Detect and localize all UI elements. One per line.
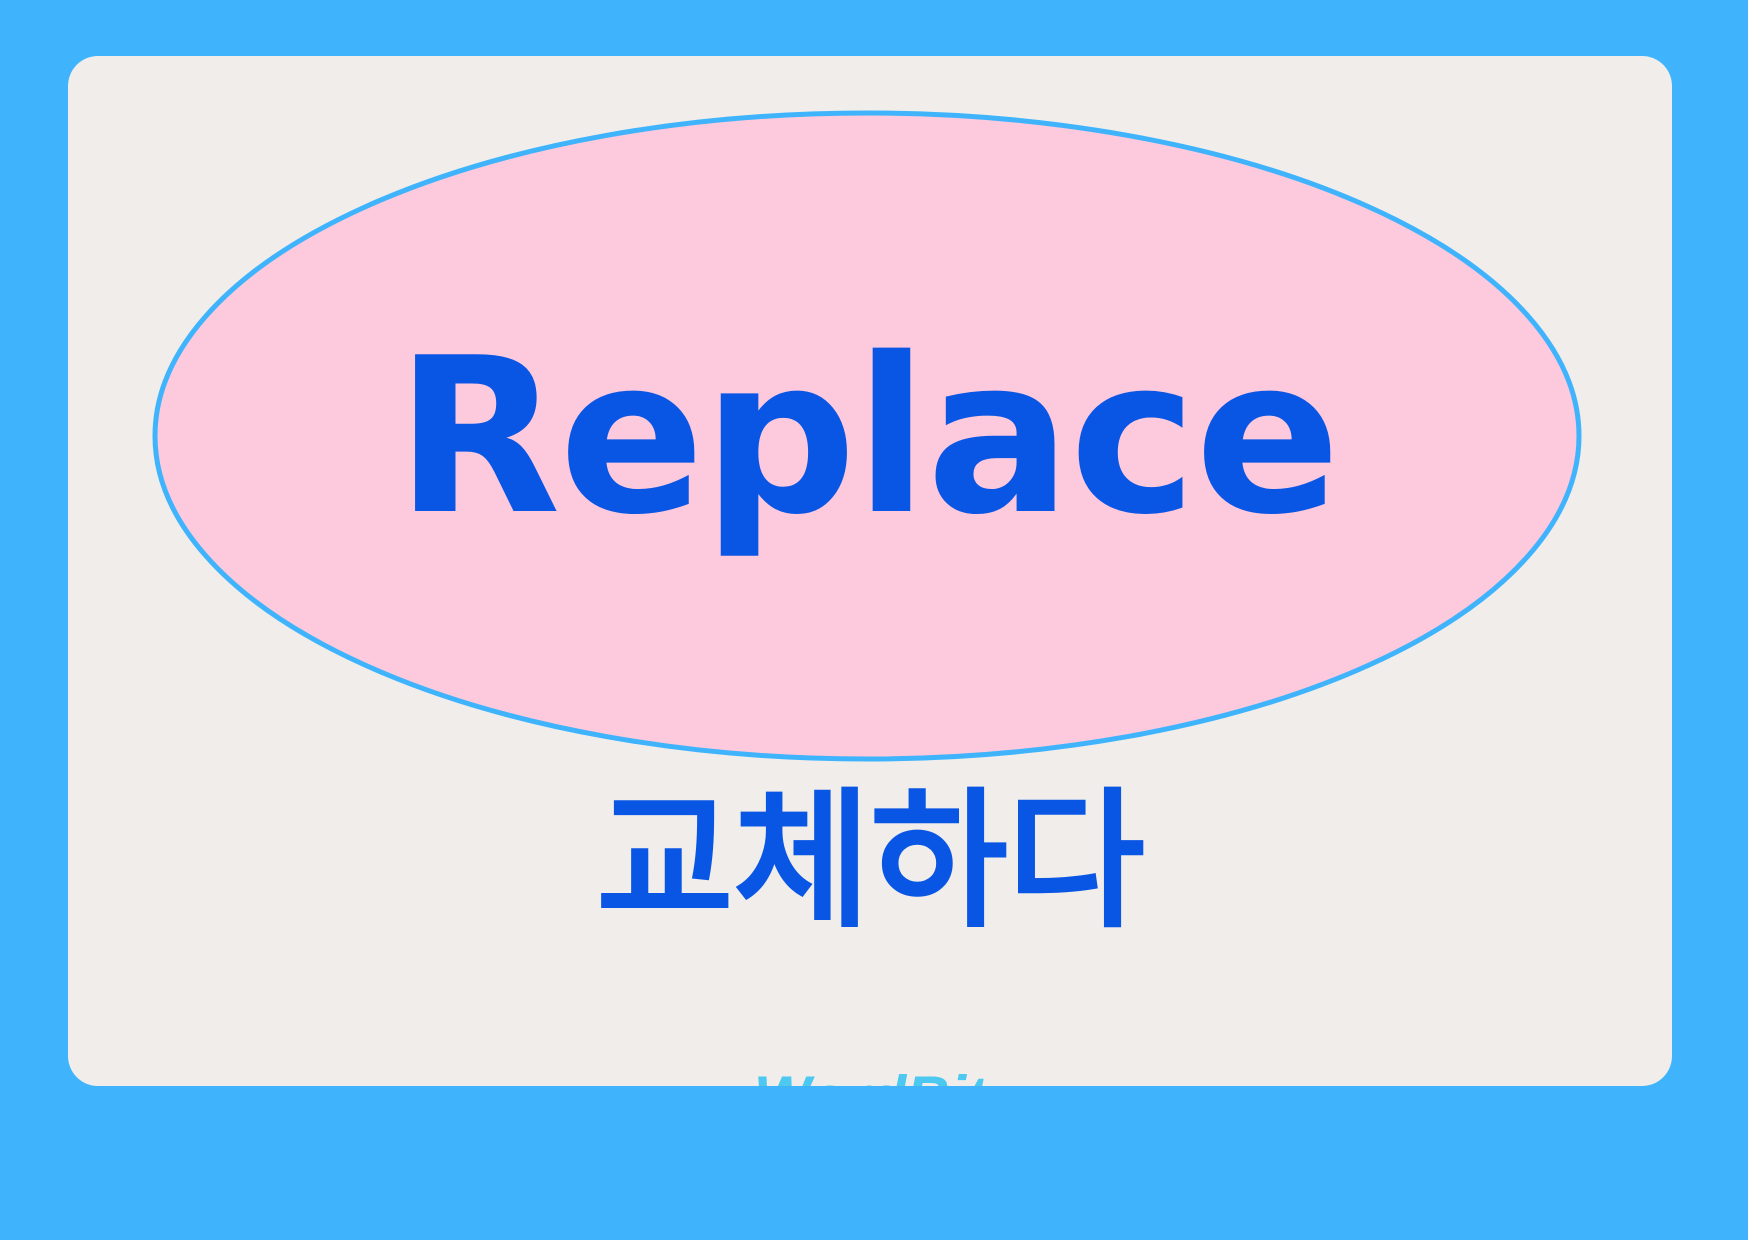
brand-wordmark: WordBit [68,1068,1672,1086]
flashcard-frame: Replace 교체하다 WordBit [0,0,1748,1240]
flashcard-card: Replace 교체하다 WordBit [68,56,1672,1086]
primary-word: Replace [152,110,1582,762]
highlight-ellipse: Replace [152,110,1582,762]
translation-word: 교체하다 [68,780,1672,945]
